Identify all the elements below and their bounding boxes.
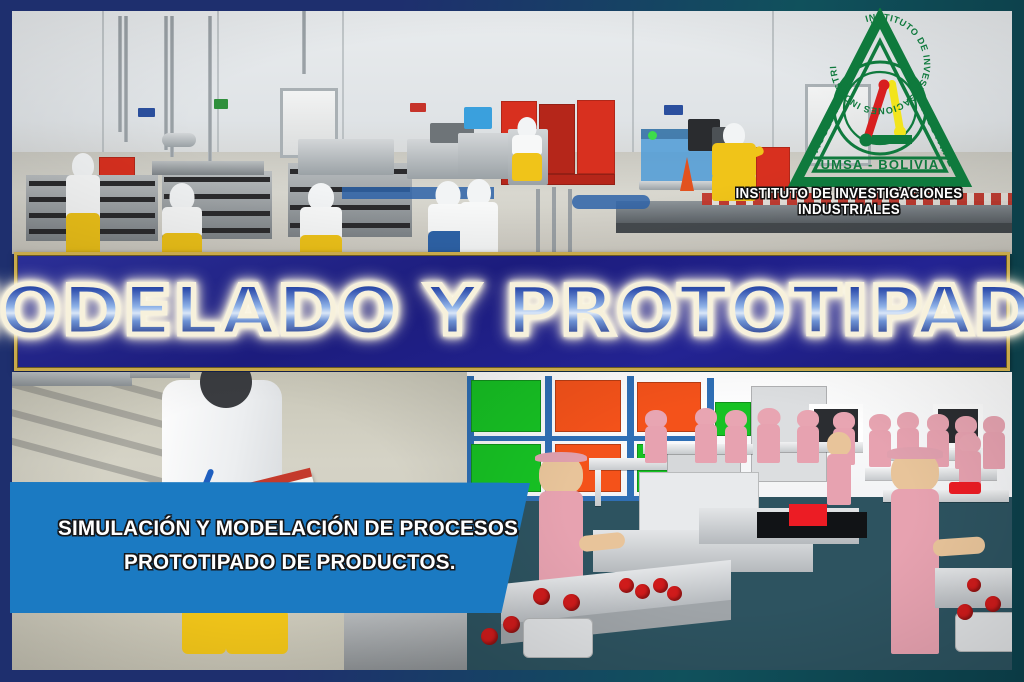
title-banner: MODELADO Y PROTOTIPADOMODELADO Y PROTOTI… (14, 252, 1010, 371)
institute-logo: FACULTAD DE INGENIERÍA INGENIERÍA INDUST… (788, 8, 973, 233)
institute-name-line1: INSTITUTO DE INVESTIGACIONES (730, 186, 967, 202)
page-title: MODELADO Y PROTOTIPADOMODELADO Y PROTOTI… (0, 272, 1024, 351)
3d-simulation-render (467, 372, 1012, 670)
page-title-outline: MODELADO Y PROTOTIPADO (0, 272, 1024, 351)
svg-text:UMSA - BOLIVIA: UMSA - BOLIVIA (821, 157, 940, 172)
institute-name-line2: INDUSTRIALES (730, 202, 967, 218)
institute-name: INSTITUTO DE INVESTIGACIONES INDUSTRIALE… (730, 186, 967, 218)
caption-line-1: SIMULACIÓN Y MODELACIÓN DE PROCESOS. (58, 512, 478, 545)
triangle-emblem-icon: FACULTAD DE INGENIERÍA INGENIERÍA INDUST… (788, 8, 973, 198)
caption-line-2: PROTOTIPADO DE PRODUCTOS. (124, 546, 481, 579)
poster-root: FACULTAD DE INGENIERÍA INGENIERÍA INDUST… (0, 0, 1024, 682)
caption-box: SIMULACIÓN Y MODELACIÓN DE PROCESOS. PRO… (10, 482, 530, 613)
